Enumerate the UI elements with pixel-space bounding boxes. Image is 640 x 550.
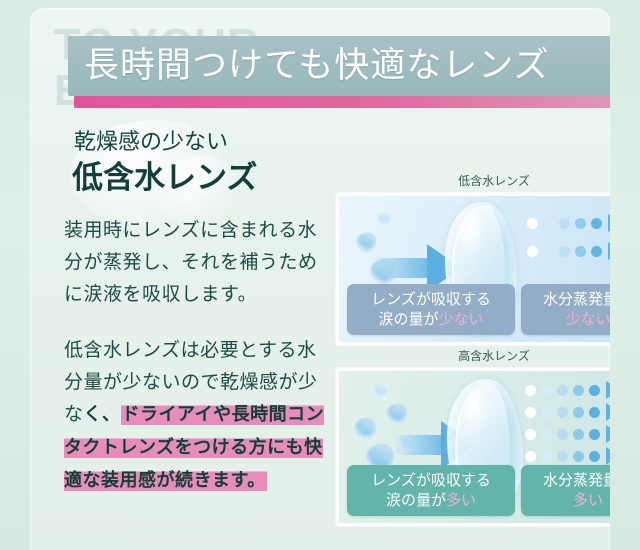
- panel-high-water: 高含水レンズ: [336, 348, 610, 526]
- pill-line-2-emphasis: 少ない: [529, 309, 610, 329]
- pill-line-2-plain: 涙の量が: [378, 310, 438, 328]
- pill-absorption-high: レンズが吸収する 涙の量が多い: [347, 465, 515, 516]
- evaporation-dot-row: [525, 403, 610, 421]
- banner-body: 長時間つけても快適なレンズ: [68, 36, 610, 96]
- pill-evaporation-low: 水分蒸発量が 少ない: [521, 284, 610, 335]
- header-banner: 長時間つけても快適なレンズ: [68, 36, 610, 102]
- content-card: TO YOUR EYES THAT 長時間つけても快適なレンズ 乾燥感の少ない …: [30, 8, 610, 550]
- pill-line-1: レンズが吸収する: [355, 470, 507, 490]
- paragraph-2: 低含水レンズは必要とする水分量が少ないので乾燥感が少なく、ドライアイや長時間コン…: [60, 334, 335, 497]
- evaporation-dot-row: [527, 242, 610, 260]
- pill-line-2-emphasis: 少ない: [439, 310, 484, 328]
- card-bottom-space: [30, 530, 610, 550]
- pill-line-2-plain: 涙の量が: [386, 491, 446, 509]
- evaporation-dot-row: [527, 214, 610, 232]
- pill-absorption-low: レンズが吸収する 涙の量が少ない: [347, 284, 515, 335]
- pill-line-2-emphasis: 多い: [446, 491, 476, 509]
- panel-title-high-water: 高含水レンズ: [336, 348, 610, 364]
- panel-title-low-water: 低含水レンズ: [336, 173, 610, 189]
- panel-box-high-water: レンズが吸収する 涙の量が多い 水分蒸発量が 多い: [336, 368, 610, 526]
- water-drop-icon: [357, 232, 377, 252]
- pill-line-2: 涙の量が多い: [355, 490, 507, 510]
- panel-low-water: 低含水レンズ: [336, 173, 610, 345]
- evaporation-dot-row: [525, 425, 610, 443]
- pill-line-2: 涙の量が少ない: [355, 309, 507, 329]
- water-drop-icon: [355, 417, 377, 439]
- left-column: 乾燥感の少ない 低含水レンズ 装用時にレンズに含まれる水分が蒸発し、それを補うた…: [60, 128, 335, 497]
- evaporation-dot-row: [525, 447, 610, 465]
- page-root: TO YOUR EYES THAT 長時間つけても快適なレンズ 乾燥感の少ない …: [0, 0, 640, 550]
- sub-heading: 乾燥感の少ない: [60, 128, 335, 158]
- pill-line-1: レンズが吸収する: [355, 289, 507, 309]
- pill-line-1: 水分蒸発量が: [529, 289, 610, 309]
- main-heading: 低含水レンズ: [60, 158, 335, 198]
- water-drop-icon: [373, 383, 389, 399]
- panel-box-low-water: レンズが吸収する 涙の量が少ない 水分蒸発量が 少ない: [336, 193, 610, 345]
- evaporation-dot-row: [525, 381, 610, 399]
- page-title: 長時間つけても快適なレンズ: [68, 46, 550, 86]
- paragraph-1: 装用時にレンズに含まれる水分が蒸発し、それを補うために涙液を吸収します。: [60, 214, 335, 310]
- pill-line-1: 水分蒸発量が: [529, 470, 610, 490]
- water-drop-icon: [377, 212, 392, 227]
- pill-line-2-emphasis: 多い: [529, 490, 610, 510]
- pill-evaporation-high: 水分蒸発量が 多い: [521, 465, 610, 516]
- paragraph-2-bold-prefix: く、: [84, 404, 121, 425]
